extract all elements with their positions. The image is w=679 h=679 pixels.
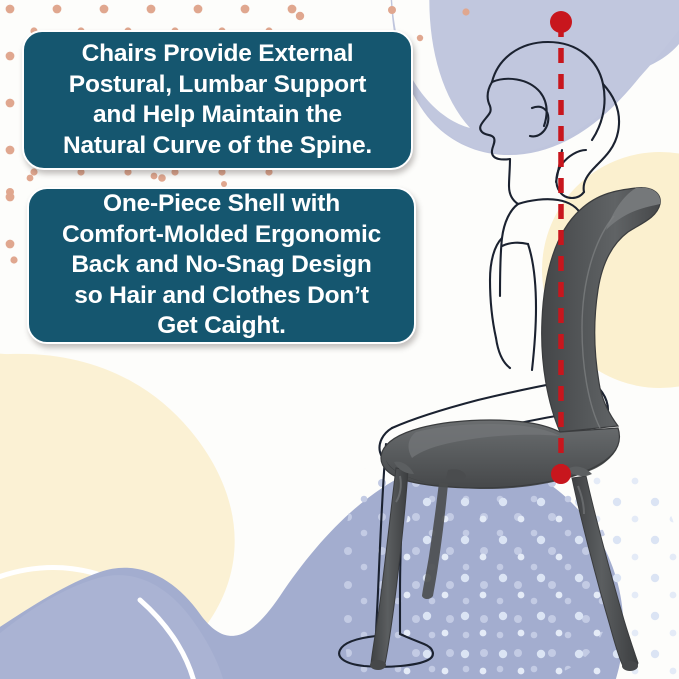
figure-arm-crease xyxy=(502,243,528,246)
figure-face-profile xyxy=(480,82,510,159)
chair-leg-front-right xyxy=(572,476,638,670)
callout-1-line-2: Postural, Lumbar Support xyxy=(69,70,366,101)
posture-marker-head xyxy=(550,11,572,33)
posture-marker-seat xyxy=(551,464,571,484)
callout-2-line-3: Back and No-Snag Design xyxy=(71,250,371,281)
callout-one-piece-shell: One-Piece Shell with Comfort-Molded Ergo… xyxy=(27,187,416,344)
chair-foot-front-right xyxy=(622,661,638,671)
figure-arm-back xyxy=(528,244,536,370)
figure-jaw-neck xyxy=(509,159,518,204)
figure-chest-front xyxy=(500,204,518,296)
callout-2-line-4: so Hair and Clothes Don’t xyxy=(74,281,368,312)
figure-shoulder-line xyxy=(518,199,582,216)
callout-2-line-1: One-Piece Shell with xyxy=(103,189,340,220)
chair-foot-front-left xyxy=(370,660,386,670)
figure-hair-fringe xyxy=(492,79,547,126)
callout-1-line-1: Chairs Provide External xyxy=(82,39,354,70)
figure-forearm xyxy=(496,338,510,368)
callout-2-line-2: Comfort-Molded Ergonomic xyxy=(62,220,381,251)
callout-2-line-5: Get Caight. xyxy=(157,311,285,342)
chair-leg-front-left xyxy=(371,468,408,669)
figure-hair-back xyxy=(584,84,619,192)
chair-leg-back-left xyxy=(422,482,448,599)
callout-1-line-4: Natural Curve of the Spine. xyxy=(63,131,372,162)
infographic-canvas: Chairs Provide External Postural, Lumbar… xyxy=(0,0,679,679)
callout-postural-support: Chairs Provide External Postural, Lumbar… xyxy=(22,30,413,170)
callout-1-line-3: and Help Maintain the xyxy=(93,100,342,131)
figure-hair-crown xyxy=(492,42,605,140)
